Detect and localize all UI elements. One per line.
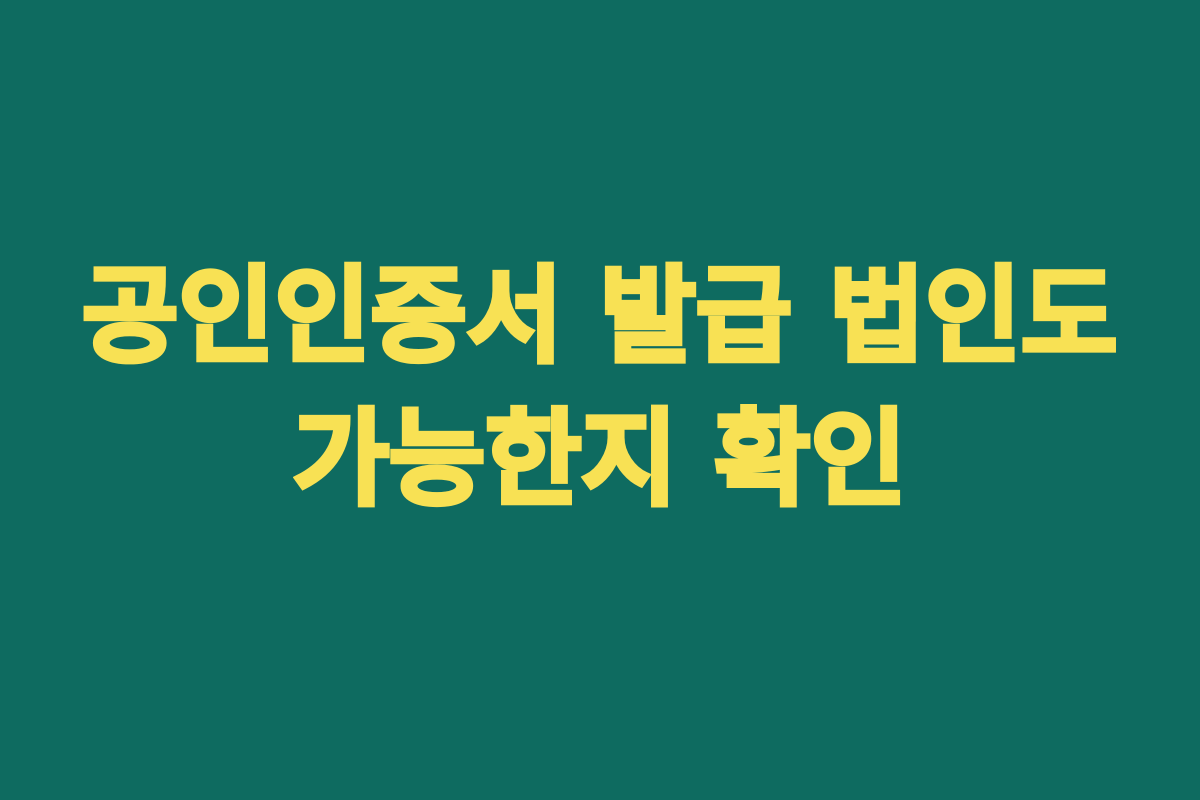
headline-line-1: 공인인증서 발급 법인도	[40, 245, 1160, 388]
headline-block: 공인인증서 발급 법인도 가능한지 확인	[0, 245, 1200, 531]
headline-line-2: 가능한지 확인	[40, 388, 1160, 531]
banner-canvas: 공인인증서 발급 법인도 가능한지 확인	[0, 0, 1200, 800]
